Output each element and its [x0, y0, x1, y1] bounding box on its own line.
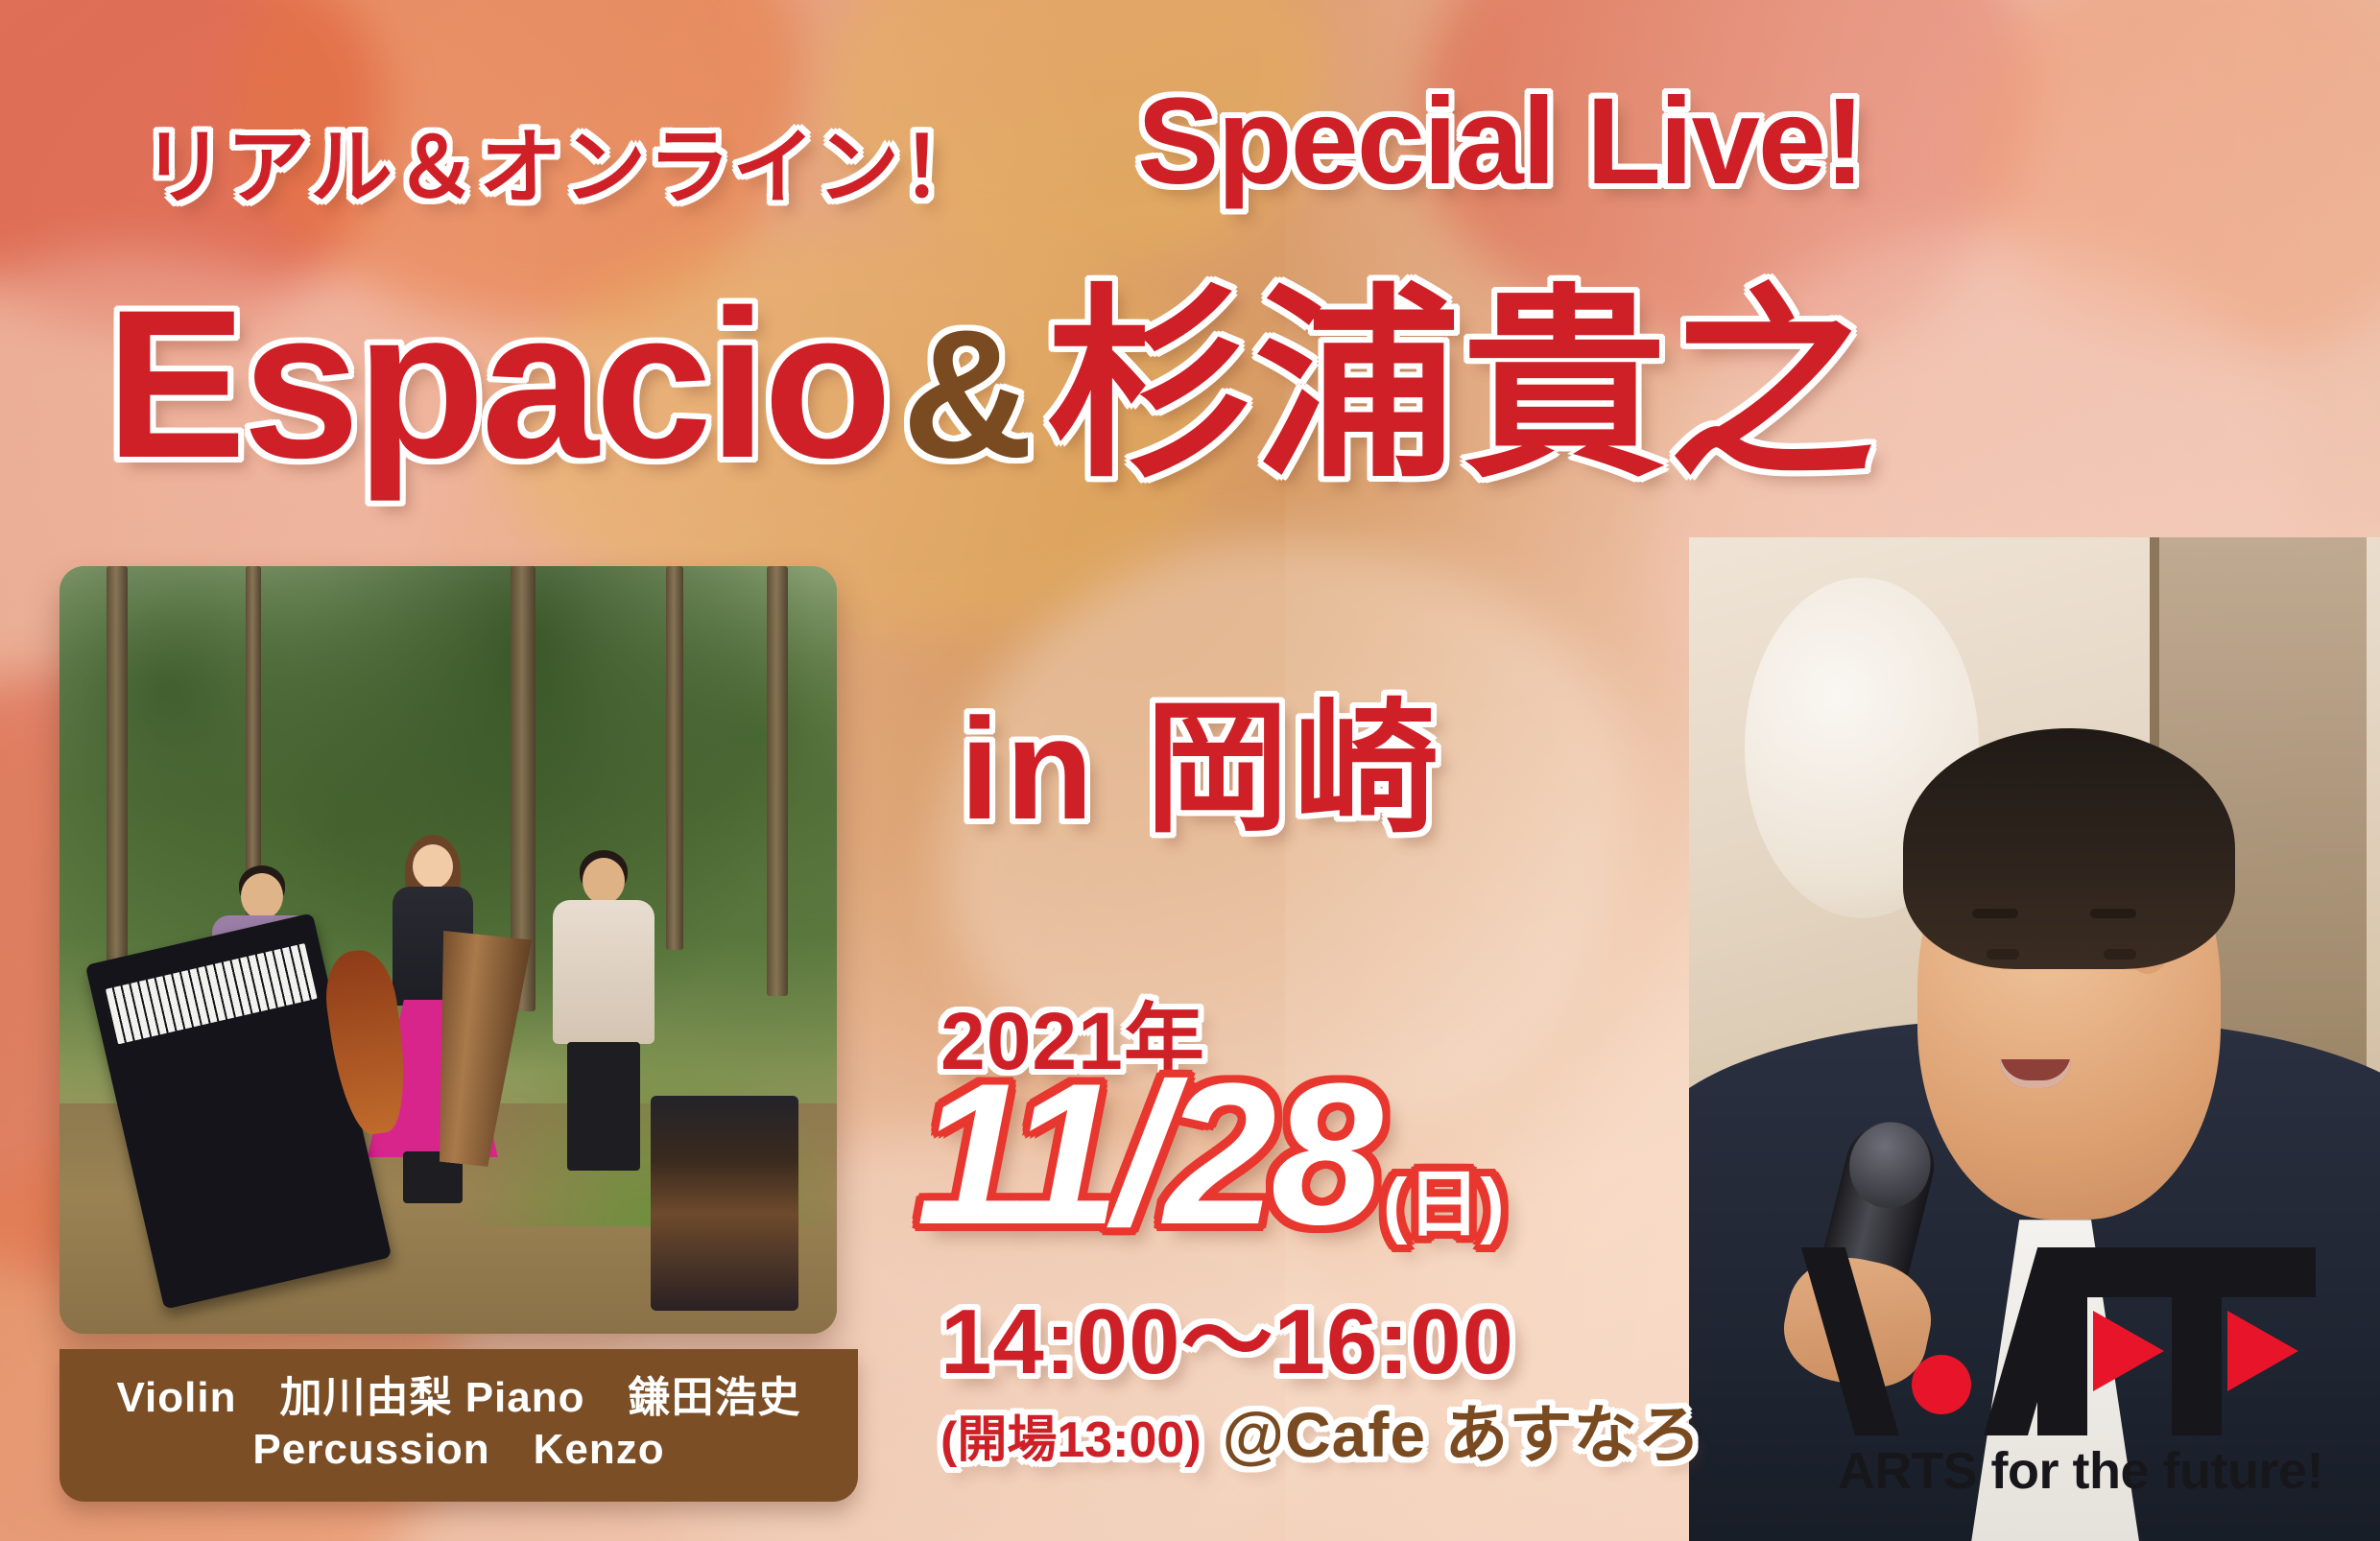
kicker-text: リアル＆オンライン！ [142, 100, 986, 220]
event-date: 11/28(日) [916, 1054, 1505, 1255]
aff-tagline: ARTS for the future! [1838, 1441, 2323, 1501]
portrait-eyebrow-right [2090, 909, 2136, 918]
event-day-of-week: (日) [1383, 1164, 1505, 1245]
title-artist-jp: 杉浦貴之 [1047, 284, 1876, 489]
f-arm [2037, 1247, 2181, 1297]
red-dot-icon [1912, 1355, 1971, 1414]
credits-line-1: Violin 加川由梨 Piano 鎌田浩史 [69, 1372, 848, 1424]
event-venue: @Cafe あすなろ [1223, 1384, 1702, 1476]
head [583, 858, 625, 904]
title-ampersand: & [902, 303, 1034, 486]
event-open-time: (開場13:00) [940, 1399, 1202, 1471]
torso [553, 900, 654, 1044]
portrait-eye-left [1987, 949, 2019, 960]
portrait-eyebrow-left [1972, 909, 2018, 918]
aff-logo-mark [1855, 1247, 2306, 1435]
event-time: 14:00〜16:00 [940, 1267, 1514, 1400]
main-title: Espacio & 杉浦貴之 [106, 278, 1876, 489]
aff-logo: ARTS for the future! [1841, 1247, 2320, 1501]
portrait-hair [1903, 728, 2235, 969]
aff-letter-a-icon [1855, 1247, 2028, 1435]
head [241, 873, 283, 919]
legs [567, 1042, 640, 1171]
event-date-value: 11/28 [916, 1041, 1377, 1267]
red-play-triangle-icon [2093, 1311, 2164, 1391]
aff-letter-f-second-icon [2172, 1247, 2316, 1435]
title-espacio: Espacio [106, 278, 889, 489]
portrait-eye-right [2104, 949, 2136, 960]
performer-credits: Violin 加川由梨 Piano 鎌田浩史 Percussion Kenzo [59, 1349, 858, 1502]
event-poster: リアル＆オンライン！ Special Live! Espacio & 杉浦貴之 … [0, 0, 2380, 1541]
tree-trunk [767, 566, 788, 996]
title-location: in 岡崎 [960, 652, 1444, 861]
red-play-triangle-icon [2227, 1311, 2298, 1391]
band-photo [59, 566, 837, 1334]
aff-letter-f-first-icon [2037, 1247, 2181, 1435]
event-venue-row: (開場13:00) @Cafe あすなろ [940, 1384, 1702, 1476]
cajon-instrument [651, 1096, 798, 1311]
credits-line-2: Percussion Kenzo [69, 1424, 848, 1476]
special-live-heading: Special Live! [1137, 71, 1864, 212]
f-arm [2172, 1247, 2316, 1297]
head [413, 844, 453, 889]
